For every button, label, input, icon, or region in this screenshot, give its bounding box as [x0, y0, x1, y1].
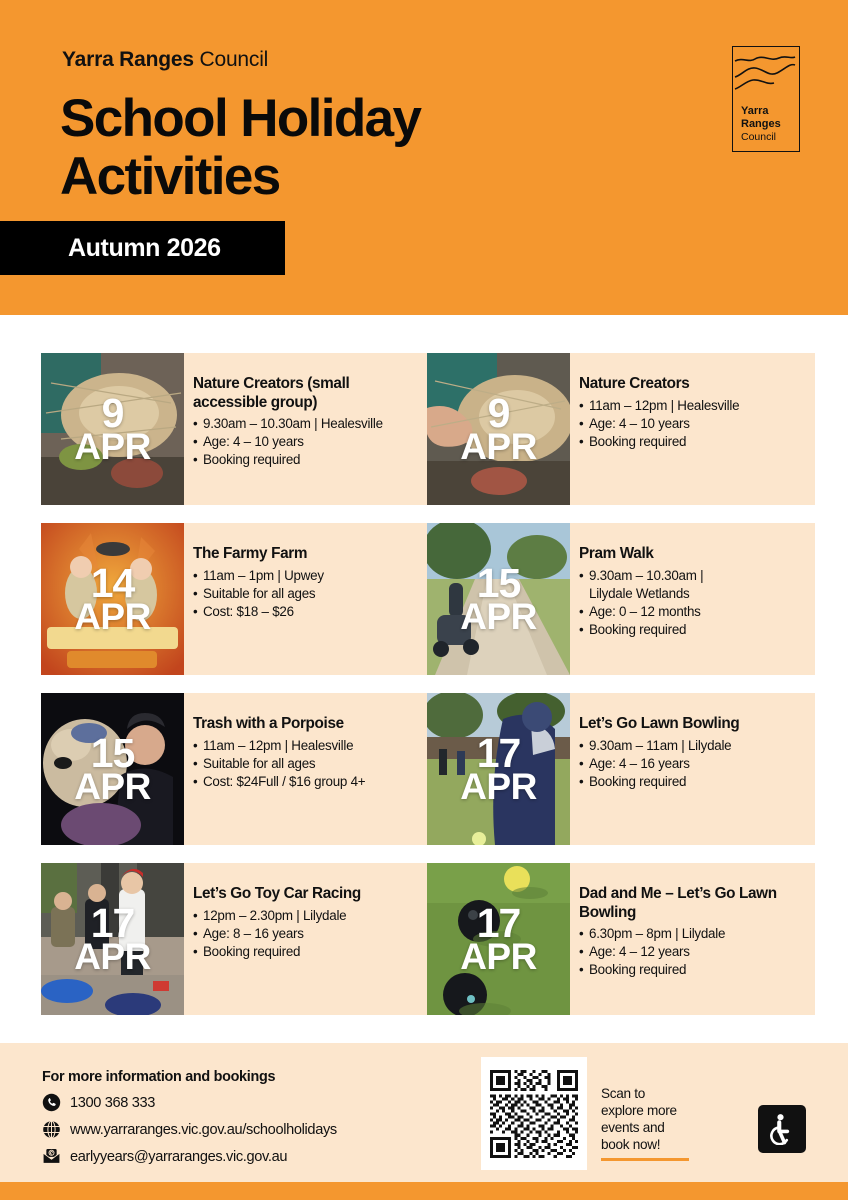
event-title: Let’s Go Toy Car Racing: [193, 885, 425, 904]
event-card[interactable]: 17 APR Let’s Go Toy Car Racing 12pm – 2.…: [41, 863, 429, 1015]
lawn-bowls-balls-photo: [427, 863, 570, 1015]
poster-footer: For more information and bookings 1300 3…: [0, 1043, 848, 1182]
globe-icon: [42, 1120, 61, 1139]
event-bullet: Age: 4 – 10 years: [579, 415, 811, 433]
event-thumbnail: [41, 693, 184, 845]
season-label: Autumn 2026: [68, 234, 221, 263]
lawn-bowling-green-photo: [427, 693, 570, 845]
qr-caption: Scan to explore more events and book now…: [601, 1085, 677, 1153]
council-wordmark-bold: Yarra Ranges: [62, 48, 194, 71]
nature-creators-hands-photo: [427, 353, 570, 505]
event-bullet-list: 11am – 1pm | Upwey Suitable for all ages…: [193, 567, 425, 621]
contact-website-row[interactable]: www.yarraranges.vic.gov.au/schoolholiday…: [42, 1120, 337, 1139]
event-thumbnail: [427, 863, 570, 1015]
event-thumbnail: [427, 693, 570, 845]
event-bullet: Suitable for all ages: [193, 585, 425, 603]
event-bullet-list: 9.30am – 11am | Lilydale Age: 4 – 16 yea…: [579, 737, 811, 791]
page-title: School Holiday Activities: [60, 90, 420, 206]
contact-phone-row[interactable]: 1300 368 333: [42, 1093, 155, 1112]
event-bullet: 9.30am – 10.30am | Lilydale Wetlands: [579, 567, 811, 603]
event-title: Let’s Go Lawn Bowling: [579, 715, 811, 734]
bottom-accent-strip: [0, 1182, 848, 1200]
event-card[interactable]: 17 APR Let’s Go Lawn Bowling 9.30am – 11…: [427, 693, 815, 845]
school-holiday-activities-poster: Yarra Ranges Council School Holiday Acti…: [0, 0, 848, 1200]
event-details: Pram Walk 9.30am – 10.30am | Lilydale We…: [579, 523, 815, 675]
qr-caption-underline: [601, 1158, 689, 1161]
event-title: Nature Creators: [579, 375, 811, 394]
event-thumbnail: [41, 353, 184, 505]
events-grid: 9 APR Nature Creators (small accessible …: [41, 353, 815, 1015]
event-bullet: 9.30am – 11am | Lilydale: [579, 737, 811, 755]
council-wordmark-light: Council: [194, 48, 268, 71]
event-details: Let’s Go Toy Car Racing 12pm – 2.30pm | …: [193, 863, 429, 1015]
event-bullet: Booking required: [579, 621, 811, 639]
nature-creators-nest-photo: [41, 353, 184, 505]
event-details: Nature Creators 11am – 12pm | Healesvill…: [579, 353, 815, 505]
event-bullet: Age: 4 – 16 years: [579, 755, 811, 773]
event-title: The Farmy Farm: [193, 545, 425, 564]
event-bullet: 12pm – 2.30pm | Lilydale: [193, 907, 425, 925]
qr-code-panel[interactable]: [481, 1057, 587, 1170]
event-bullet: 9.30am – 10.30am | Healesville: [193, 415, 425, 433]
yarra-ranges-council-logo: Yarra Ranges Council: [732, 46, 800, 152]
pram-walk-trail-photo: [427, 523, 570, 675]
event-title: Trash with a Porpoise: [193, 715, 425, 734]
event-bullet-list: 11am – 12pm | Healesville Suitable for a…: [193, 737, 425, 791]
event-title: Nature Creators (small accessible group): [193, 375, 425, 412]
event-details: Trash with a Porpoise 11am – 12pm | Heal…: [193, 693, 429, 845]
event-bullet: 11am – 1pm | Upwey: [193, 567, 425, 585]
event-thumbnail: [427, 353, 570, 505]
toy-car-racing-kids-photo: [41, 863, 184, 1015]
phone-icon: [42, 1093, 61, 1112]
event-bullet: Cost: $18 – $26: [193, 603, 425, 621]
poster-header: Yarra Ranges Council School Holiday Acti…: [0, 0, 848, 315]
event-details: The Farmy Farm 11am – 1pm | Upwey Suitab…: [193, 523, 429, 675]
council-wordmark: Yarra Ranges Council: [62, 48, 268, 72]
event-row: 15 APR Trash with a Porpoise 11am – 12pm…: [41, 693, 815, 845]
event-bullet: Age: 4 – 10 years: [193, 433, 425, 451]
contact-email-text: earlyyears@yarraranges.vic.gov.au: [70, 1149, 287, 1165]
event-bullet: 11am – 12pm | Healesville: [579, 397, 811, 415]
contact-website-text: www.yarraranges.vic.gov.au/schoolholiday…: [70, 1122, 337, 1138]
page-title-line2: Activities: [60, 148, 420, 206]
event-bullet: Age: 4 – 12 years: [579, 943, 811, 961]
logo-wordmark: Yarra Ranges Council: [741, 105, 781, 144]
event-row: 14 APR The Farmy Farm 11am – 1pm | Upwey…: [41, 523, 815, 675]
event-bullet: 6.30pm – 8pm | Lilydale: [579, 925, 811, 943]
season-banner: Autumn 2026: [0, 221, 285, 275]
event-card[interactable]: 15 APR Trash with a Porpoise 11am – 12pm…: [41, 693, 429, 845]
event-card[interactable]: 9 APR Nature Creators 11am – 12pm | Heal…: [427, 353, 815, 505]
event-bullet: Booking required: [193, 451, 425, 469]
logo-line-2: Ranges: [741, 118, 781, 131]
contact-phone-text: 1300 368 333: [70, 1095, 155, 1111]
event-bullet: Age: 0 – 12 months: [579, 603, 811, 621]
qr-code-icon: [490, 1070, 578, 1158]
event-bullet: Booking required: [579, 773, 811, 791]
logo-line-3: Council: [741, 131, 781, 144]
event-bullet: 11am – 12pm | Healesville: [193, 737, 425, 755]
event-card[interactable]: 9 APR Nature Creators (small accessible …: [41, 353, 429, 505]
trash-with-a-porpoise-puppet-photo: [41, 693, 184, 845]
event-thumbnail: [41, 863, 184, 1015]
page-title-line1: School Holiday: [60, 89, 420, 148]
event-bullet-list: 12pm – 2.30pm | Lilydale Age: 8 – 16 yea…: [193, 907, 425, 961]
event-bullet: Booking required: [579, 433, 811, 451]
event-bullet-list: 11am – 12pm | Healesville Age: 4 – 10 ye…: [579, 397, 811, 451]
wheelchair-accessible-icon: [767, 1113, 797, 1145]
event-card[interactable]: 17 APR Dad and Me – Let’s Go Lawn Bowlin…: [427, 863, 815, 1015]
event-thumbnail: [427, 523, 570, 675]
event-row: 9 APR Nature Creators (small accessible …: [41, 353, 815, 505]
event-bullet: Cost: $24Full / $16 group 4+: [193, 773, 425, 791]
email-icon: [42, 1147, 61, 1166]
event-card[interactable]: 14 APR The Farmy Farm 11am – 1pm | Upwey…: [41, 523, 429, 675]
event-bullet: Booking required: [579, 961, 811, 979]
event-bullet: Suitable for all ages: [193, 755, 425, 773]
farmy-farm-poster-photo: [41, 523, 184, 675]
event-bullet-list: 9.30am – 10.30am | Lilydale Wetlands Age…: [579, 567, 811, 639]
event-bullet: Booking required: [193, 943, 425, 961]
event-row: 17 APR Let’s Go Toy Car Racing 12pm – 2.…: [41, 863, 815, 1015]
event-title: Dad and Me – Let’s Go Lawn Bowling: [579, 885, 811, 922]
event-bullet-list: 9.30am – 10.30am | Healesville Age: 4 – …: [193, 415, 425, 469]
event-title: Pram Walk: [579, 545, 811, 564]
event-details: Nature Creators (small accessible group)…: [193, 353, 429, 505]
event-details: Dad and Me – Let’s Go Lawn Bowling 6.30p…: [579, 863, 815, 1015]
logo-ranges-graphic: [733, 47, 797, 99]
contact-heading: For more information and bookings: [42, 1069, 275, 1085]
event-bullet: Age: 8 – 16 years: [193, 925, 425, 943]
event-bullet-list: 6.30pm – 8pm | Lilydale Age: 4 – 12 year…: [579, 925, 811, 979]
event-details: Let’s Go Lawn Bowling 9.30am – 11am | Li…: [579, 693, 815, 845]
contact-email-row[interactable]: earlyyears@yarraranges.vic.gov.au: [42, 1147, 287, 1166]
event-thumbnail: [41, 523, 184, 675]
logo-line-1: Yarra: [741, 105, 781, 118]
accessibility-badge: [758, 1105, 806, 1153]
event-card[interactable]: 15 APR Pram Walk 9.30am – 10.30am | Lily…: [427, 523, 815, 675]
